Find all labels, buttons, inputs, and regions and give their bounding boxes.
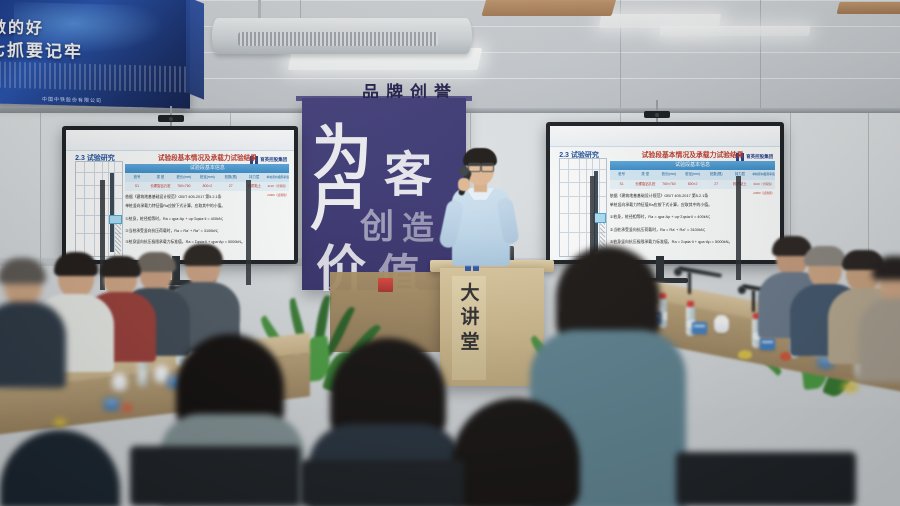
- promotional-banner-top-left: 做的好 七抓要记牢 中国中铁股份有限公司: [0, 0, 190, 109]
- tea-cup: [112, 376, 127, 391]
- table-cell: 800×2: [681, 180, 705, 189]
- banner-footer-text: 中国中铁股份有限公司: [42, 96, 102, 105]
- table-header-cell: 桩长(mm): [657, 170, 681, 179]
- glasses-icon: [481, 163, 494, 172]
- chair-back: [300, 460, 464, 506]
- slide-side-table: [75, 161, 123, 257]
- ceiling-wood-panel: [837, 2, 900, 14]
- slide-header: [66, 130, 294, 151]
- table-cell: 3100（计算值）+5000（试验值）: [752, 180, 776, 189]
- slide-right: 2.3 试验研究 育英控股集团 试验段基本情况及承载力试验结果 试验段基本信息 …: [550, 126, 780, 260]
- highlight-cell: [109, 215, 122, 224]
- ceiling-light-panel: [659, 26, 810, 36]
- slide-body-line: 依据《建筑地基基础设计规范》GB/T 405-2017 第5.2.1条: [610, 193, 709, 199]
- highlight-cell: [593, 213, 606, 223]
- table-header-cell: 桩号: [125, 173, 148, 182]
- table-header-cell: 单桩竖向极限承载力标准值(kN): [266, 173, 289, 182]
- screen-stand-right: [656, 256, 664, 280]
- fruit: [738, 350, 752, 359]
- table-cell: 3100（计算值）+5000（试验值）: [266, 182, 289, 191]
- table-cell: 27: [704, 180, 728, 189]
- banner-char-chuang: 创: [360, 210, 394, 244]
- ac-vent-grille: [238, 32, 438, 46]
- slide-header: [550, 126, 780, 147]
- slide-body-line: 单桩竖向承载力特征值Ra应按下式计算，应取其中的小值。: [610, 202, 712, 208]
- table-data-row: S1 长螺旋钻孔桩 760×760 800×2 27 粉质黏土 3100（计算值…: [125, 182, 289, 191]
- slide-body-line: 依据《建筑地基基础设计规范》GB/T 405-2017 第5.2.1条: [125, 195, 221, 200]
- fruit: [54, 418, 66, 427]
- table-header-cell: 类 型: [149, 173, 172, 182]
- table-header-cell: 桩数(根): [219, 173, 242, 182]
- table-header-cell: 桩径(mm): [681, 170, 705, 179]
- conference-room-photo: 做的好 七抓要记牢 中国中铁股份有限公司 品牌创誉 为 客 户 创 造 价 值 …: [0, 0, 900, 506]
- banner-line-2: 七抓要记牢: [0, 35, 83, 62]
- table-cell: 长螺旋钻孔桩: [633, 180, 657, 189]
- microphone-head-icon: [459, 166, 469, 176]
- speaker-hand: [458, 178, 470, 191]
- slide-body-line: ①桩身，桩径相等时，Ra = qpa·Ap + up·Σqsia·li = 40…: [610, 214, 713, 220]
- table-cell: S1: [610, 180, 634, 189]
- table-cell: 27: [219, 182, 242, 191]
- slide-body-line: ③桩身竖向抗压极限承载力标准值，Ra = Σqsia·li + qpa·Ap =…: [610, 239, 733, 245]
- table-microphone-head-icon: [738, 286, 746, 294]
- table-cell: 长螺旋钻孔桩: [149, 182, 172, 191]
- table-data-row: S1 长螺旋钻孔桩 760×760 800×2 27 粉质黏土 3100（计算值…: [610, 180, 776, 189]
- table-header-cell: 桩径(mm): [196, 173, 219, 182]
- tea-cup: [154, 368, 169, 383]
- table-header-cell: 桩数(根): [704, 170, 728, 179]
- fruit: [842, 382, 858, 392]
- chair-back: [676, 452, 856, 506]
- soil-column-graphic: [110, 173, 114, 252]
- ceiling-wood-panel: [481, 0, 616, 16]
- chair-back: [130, 446, 300, 506]
- banner-char-zao: 造: [402, 212, 434, 244]
- table-header-cell: 桩号: [610, 170, 634, 179]
- table-microphone-stand: [688, 272, 691, 294]
- table-microphone-head-icon: [674, 268, 682, 276]
- table-cell: 760×760: [657, 180, 681, 189]
- name-card: [104, 398, 119, 410]
- table-header-cell: 桩长(mm): [172, 173, 195, 182]
- fruit: [122, 404, 132, 412]
- slide-body-line: ②当桩承受竖向抗压荷载时，Ra = Ra' + Ra" = 3100kN；: [125, 228, 220, 234]
- table-cell: 760×760: [172, 182, 195, 191]
- slide-title: 试验段基本情况及承载力试验结果: [610, 149, 776, 159]
- venue-name: 大讲堂: [455, 282, 485, 355]
- table-caption: 试验段基本信息: [125, 164, 289, 173]
- display-screen-left[interactable]: 2.3 试验研究 育英控股集团 试验段基本情况及承载力试验结果 试验段基本信息 …: [62, 126, 298, 264]
- slide-body-line: ②当桩承受竖向抗压荷载时，Ra = Ra' + Ra" = 3100kN；: [610, 227, 708, 233]
- table-header-cell: 单桩竖向极限承载力标准值(kN): [752, 170, 776, 179]
- tea-cup: [714, 318, 729, 333]
- slide-side-table: [559, 158, 607, 256]
- table-microphone-stand: [752, 290, 755, 312]
- name-card: [760, 338, 775, 350]
- screen-stand-right-leg: [246, 180, 251, 285]
- screen-stand-right-leg-b: [736, 176, 741, 280]
- banner-fold: [186, 0, 204, 100]
- slide-body-line: ③桩身竖向抗压极限承载力标准值，Ra = Σqsia·li + qpa·Ap =…: [125, 239, 245, 245]
- screen-camera-icon: [644, 111, 670, 118]
- name-card: [692, 322, 707, 334]
- display-screen-right[interactable]: 2.3 试验研究 育英控股集团 试验段基本情况及承载力试验结果 试验段基本信息 …: [546, 122, 784, 264]
- slide-title: 试验段基本情况及承载力试验结果: [125, 152, 289, 162]
- slide-body-line: 单桩竖向承载力特征值Ra应按下式计算，应取其中的小值。: [125, 204, 225, 209]
- table-caption: 试验段基本信息: [610, 161, 776, 170]
- table-header-cell: 类 型: [633, 170, 657, 179]
- table-cell: S1: [125, 182, 148, 191]
- banner-char-ke: 客: [384, 152, 432, 200]
- slide-body-line: ①桩身，桩径相等时，Ra = qpa·Ap + up·Σqsia·li = 40…: [125, 216, 225, 222]
- screen-camera-icon: [158, 115, 184, 122]
- ac-mount-stem: [258, 0, 261, 20]
- table-cell: 800×2: [196, 182, 219, 191]
